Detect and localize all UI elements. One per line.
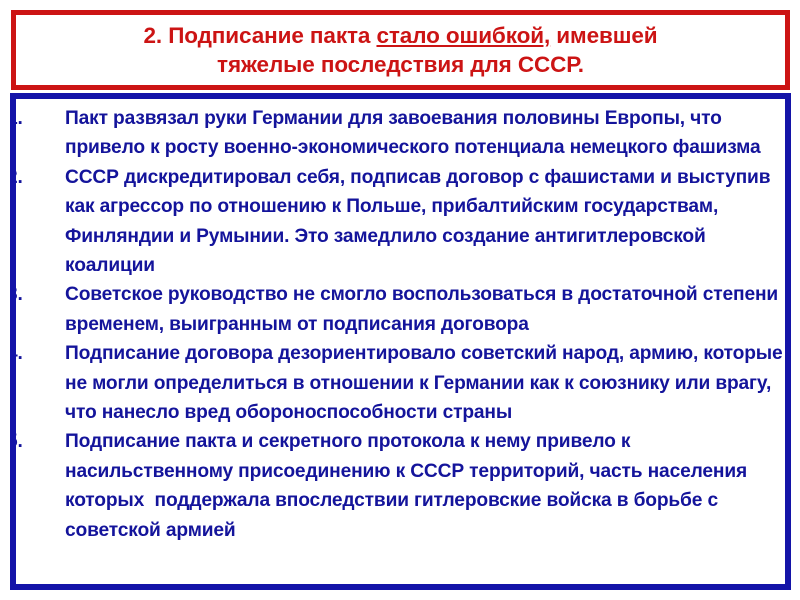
list-item-marker: 2. xyxy=(10,163,49,192)
list-item-marker: 4. xyxy=(10,339,49,368)
title-line-1-after: имевшей xyxy=(550,23,657,48)
title-line-1-before: 2. Подписание пакта xyxy=(143,23,376,48)
list-item-marker: 5. xyxy=(10,427,49,456)
list-item-text: СССР дискредитировал себя, подписав дого… xyxy=(65,163,785,281)
body-box: 1. Пакт развязал руки Германии для завое… xyxy=(10,93,791,590)
list-item-marker: 3. xyxy=(10,280,49,309)
title-line-1-underlined: стало ошибкой, xyxy=(376,23,550,48)
list-item-text: Подписание договора дезориентировало сов… xyxy=(65,339,785,427)
list-item-text: Советское руководство не смогло воспольз… xyxy=(65,280,785,339)
title-box: 2. Подписание пакта стало ошибкой, имевш… xyxy=(11,10,790,90)
list-item: 3. Советское руководство не смогло воспо… xyxy=(16,280,785,339)
consequences-list: 1. Пакт развязал руки Германии для завое… xyxy=(16,104,785,545)
list-item: 5. Подписание пакта и секретного протоко… xyxy=(16,427,785,545)
list-item: 2. СССР дискредитировал себя, подписав д… xyxy=(16,163,785,281)
list-item-text: Пакт развязал руки Германии для завоеван… xyxy=(65,104,785,163)
list-item: 1. Пакт развязал руки Германии для завое… xyxy=(16,104,785,163)
slide-root: 2. Подписание пакта стало ошибкой, имевш… xyxy=(0,0,800,600)
list-item: 4. Подписание договора дезориентировало … xyxy=(16,339,785,427)
title-line-1: 2. Подписание пакта стало ошибкой, имевш… xyxy=(143,21,657,50)
title-line-2: тяжелые последствия для СССР. xyxy=(217,50,584,79)
list-item-marker: 1. xyxy=(10,104,49,133)
list-item-text: Подписание пакта и секретного протокола … xyxy=(65,427,785,545)
